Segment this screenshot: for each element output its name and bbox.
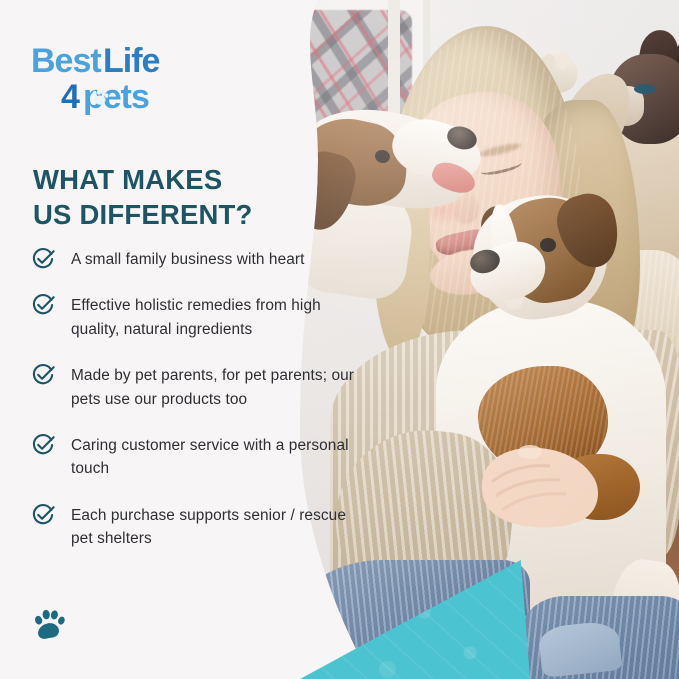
- list-item: Effective holistic remedies from high qu…: [31, 294, 361, 341]
- page-title-line-2: US DIFFERENT?: [33, 199, 253, 230]
- list-item-label: Caring customer service with a personal …: [71, 434, 359, 481]
- paw-print-icon: [27, 602, 71, 646]
- list-item: Caring customer service with a personal …: [31, 434, 361, 481]
- list-item-label: Effective holistic remedies from high qu…: [71, 294, 359, 341]
- list-item: Each purchase supports senior / rescue p…: [31, 504, 361, 551]
- logo-text-pets: pets: [83, 78, 149, 116]
- list-item-label: Made by pet parents, for pet parents; ou…: [71, 364, 359, 411]
- brand-logo[interactable]: Best Life 4 pets: [31, 38, 241, 118]
- check-circle-icon: [31, 363, 55, 387]
- list-item: A small family business with heart: [31, 248, 361, 271]
- logo-text-four: 4: [61, 78, 80, 116]
- check-circle-icon: [31, 293, 55, 317]
- product-infographic-card: Best Life 4 pets WHAT MAKESUS DIFFERENT?…: [0, 0, 679, 679]
- check-circle-icon: [31, 433, 55, 457]
- list-item: Made by pet parents, for pet parents; ou…: [31, 364, 361, 411]
- check-circle-icon: [31, 503, 55, 527]
- logo-text-best: Best: [31, 42, 101, 80]
- list-item-label: A small family business with heart: [71, 248, 305, 271]
- logo-text-life: Life: [103, 42, 160, 80]
- check-circle-icon: [31, 247, 55, 271]
- list-item-label: Each purchase supports senior / rescue p…: [71, 504, 359, 551]
- page-title-line-1: WHAT MAKES: [33, 164, 222, 195]
- benefits-list: A small family business with heart Effec…: [31, 248, 361, 551]
- page-title: WHAT MAKESUS DIFFERENT?: [33, 163, 333, 232]
